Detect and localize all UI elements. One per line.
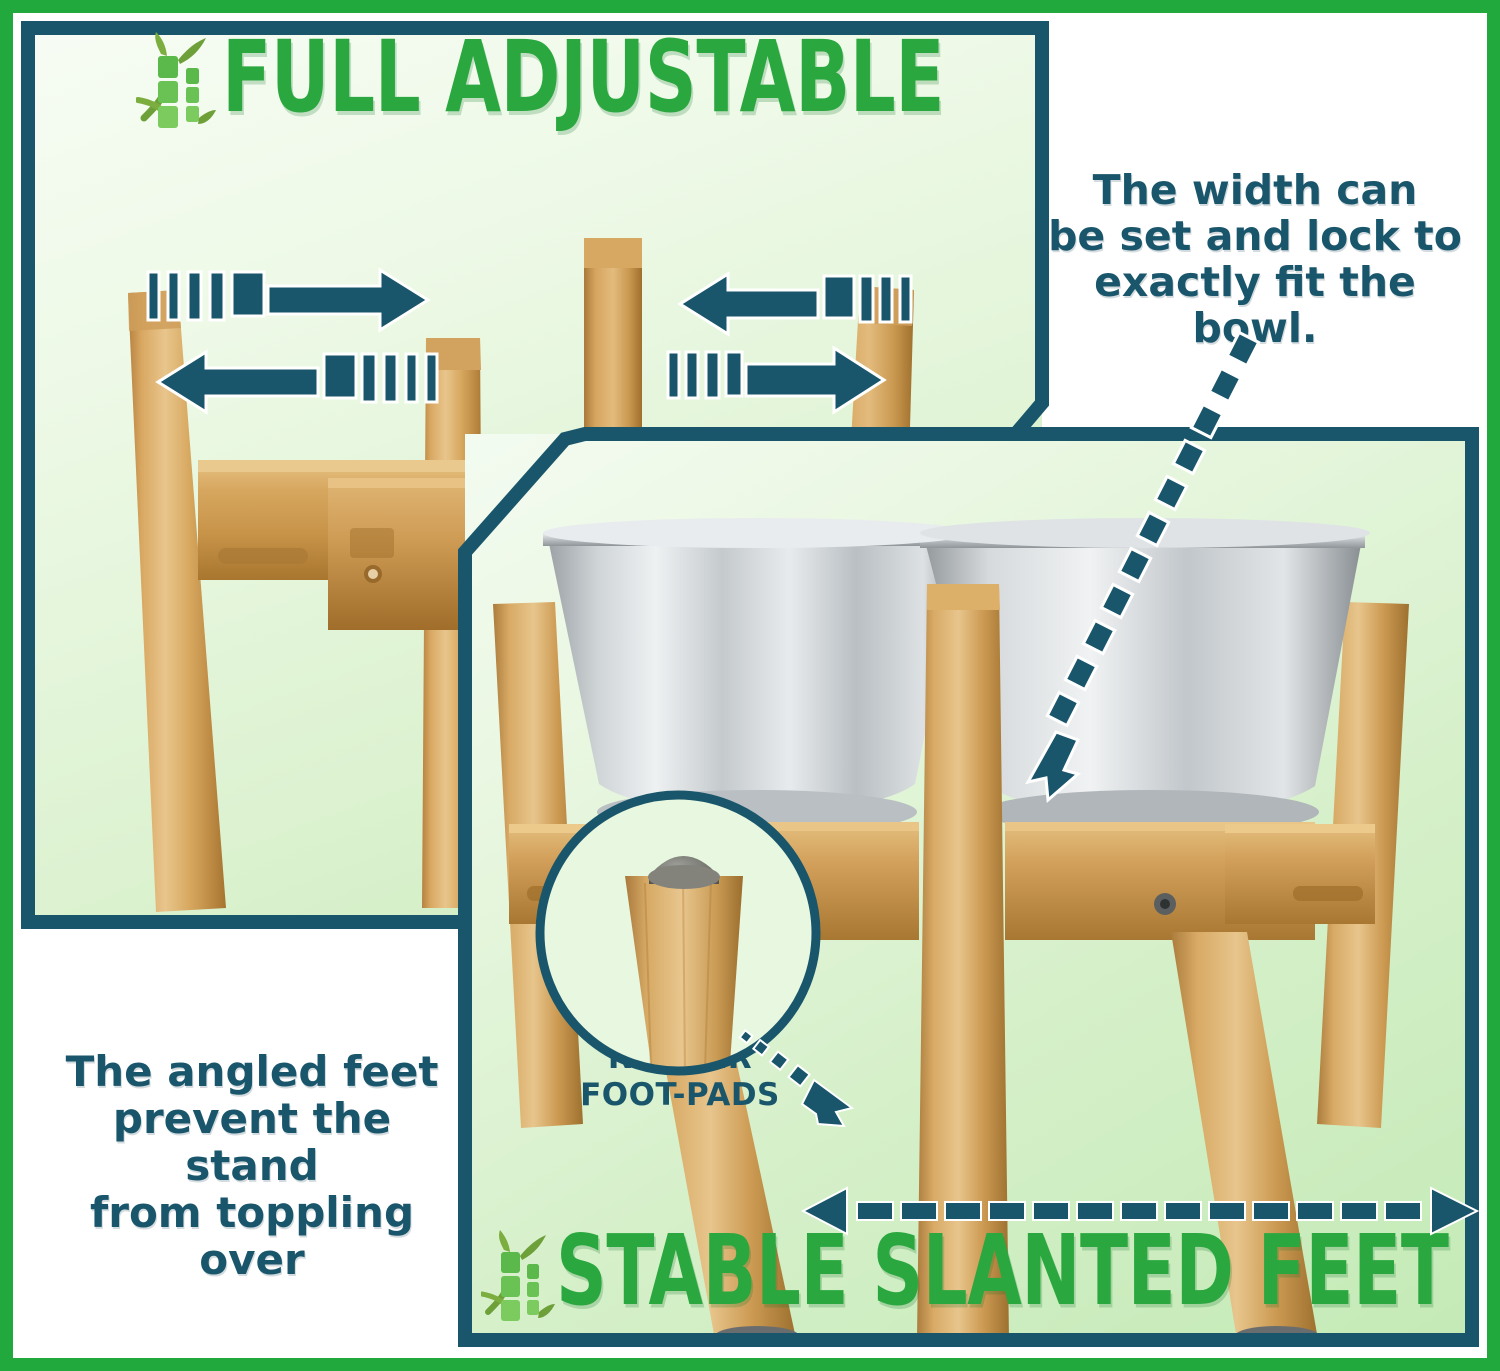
callout-angled-feet: The angled feet prevent the stand from t… xyxy=(52,1048,452,1283)
arrow-left-group-left xyxy=(158,352,437,412)
arrow-left-group-right xyxy=(148,270,428,330)
callout-angled-line4: over xyxy=(52,1236,452,1283)
callout-width-line1: The width can xyxy=(1030,168,1480,214)
callout-width-line2: be set and lock to xyxy=(1030,214,1480,260)
width-lock-pointer-arrow xyxy=(1000,330,1300,800)
headline-full-adjustable: FULL ADJUSTABLE xyxy=(222,19,944,135)
footpad-pointer-arrow xyxy=(740,1020,880,1130)
callout-angled-line1: The angled feet xyxy=(52,1048,452,1095)
callout-angled-line3: from toppling xyxy=(52,1189,452,1236)
callout-width-lock: The width can be set and lock to exactly… xyxy=(1030,168,1480,352)
arrow-right-group-left xyxy=(680,274,911,334)
infographic-root: FULL ADJUSTABLE xyxy=(0,0,1500,1371)
width-double-arrow xyxy=(795,1186,1485,1246)
bamboo-icon xyxy=(481,1228,555,1332)
callout-angled-line2: prevent the stand xyxy=(52,1095,452,1189)
arrow-right-group-right xyxy=(668,348,884,412)
bamboo-icon xyxy=(136,30,216,140)
